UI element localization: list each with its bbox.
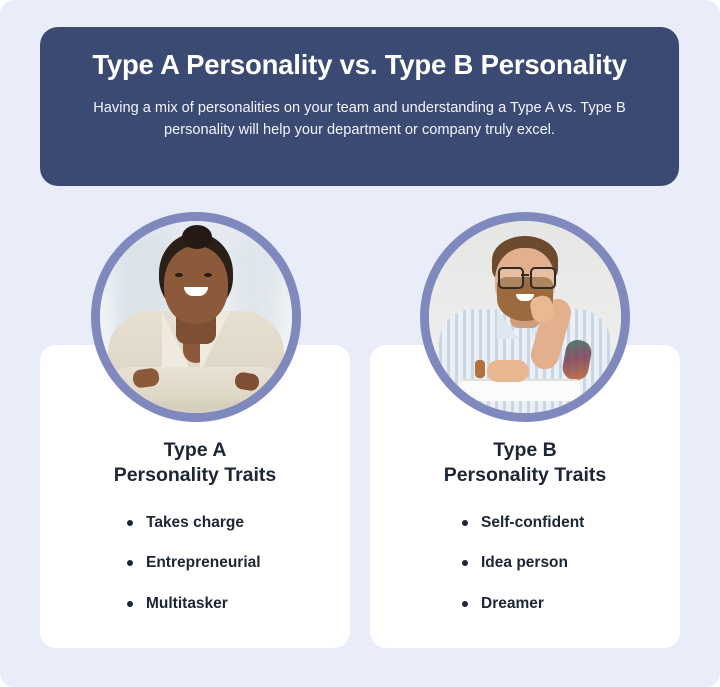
portrait-a-eye-right: [204, 273, 212, 277]
portrait-type-a-image: [100, 221, 292, 413]
bullet-icon: [127, 601, 133, 607]
bullet-icon: [127, 560, 133, 566]
header-subtitle: Having a mix of personalities on your te…: [75, 97, 645, 141]
trait-label: Dreamer: [481, 595, 544, 612]
trait-list-type-b: Self-confident Idea person Dreamer: [370, 515, 680, 612]
portrait-b-glasses-left-lens: [498, 267, 524, 289]
bullet-icon: [462, 560, 468, 566]
header-panel: Type A Personality vs. Type B Personalit…: [40, 27, 679, 186]
portrait-b-bracelet: [475, 360, 485, 378]
trait-label: Entrepreneurial: [146, 554, 261, 571]
portrait-b-hand-on-desk: [487, 360, 529, 382]
trait-card-type-a-heading-line2: Personality Traits: [114, 464, 277, 486]
list-item: Self-confident: [462, 515, 680, 531]
trait-label: Multitasker: [146, 595, 228, 612]
trait-card-type-b-heading-line2: Personality Traits: [444, 464, 607, 486]
trait-card-type-a-heading-line1: Type A: [164, 439, 227, 461]
trait-list-type-a: Takes charge Entrepreneurial Multitasker: [40, 515, 350, 612]
portrait-type-b: [420, 212, 630, 422]
list-item: Dreamer: [462, 596, 680, 612]
trait-label: Idea person: [481, 554, 568, 571]
bullet-icon: [127, 520, 133, 526]
list-item: Multitasker: [127, 596, 350, 612]
portrait-a-hair-bun: [182, 225, 212, 249]
trait-label: Self-confident: [481, 514, 584, 531]
portrait-b-notebook: [460, 379, 580, 401]
infographic-canvas: Type A Personality vs. Type B Personalit…: [0, 0, 720, 687]
portrait-b-glasses-right-lens: [530, 267, 556, 289]
portrait-b-glasses-bridge: [521, 274, 529, 276]
bullet-icon: [462, 520, 468, 526]
portrait-a-face: [164, 246, 228, 324]
list-item: Takes charge: [127, 515, 350, 531]
trait-label: Takes charge: [146, 514, 244, 531]
page-title: Type A Personality vs. Type B Personalit…: [70, 49, 649, 81]
portrait-a-eye-left: [175, 273, 183, 277]
portrait-type-a: [91, 212, 301, 422]
portrait-type-b-image: [429, 221, 621, 413]
bullet-icon: [462, 601, 468, 607]
trait-card-type-b-heading-line1: Type B: [493, 439, 557, 461]
list-item: Entrepreneurial: [127, 555, 350, 571]
list-item: Idea person: [462, 555, 680, 571]
